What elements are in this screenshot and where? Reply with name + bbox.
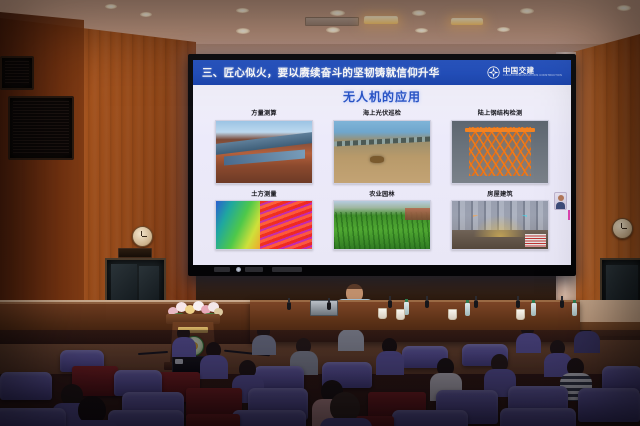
image-caption: 方量测算 (251, 108, 277, 117)
table-microphone (425, 300, 429, 308)
wall-clock (612, 218, 633, 239)
gallery-row: 方量测算 海上光伏巡检 陆上钢结构检测 (215, 108, 549, 184)
table-microphone (287, 302, 291, 310)
slide-subtitle: 无人机的应用 (193, 88, 571, 105)
audience-area (0, 330, 640, 426)
seat-frame (186, 414, 240, 426)
ceiling-downlight (520, 8, 534, 14)
gallery-cell[interactable]: 农业园林 (333, 189, 431, 251)
tea-cup (448, 309, 457, 320)
water-bottle (531, 303, 536, 316)
image-legend-overlay (525, 234, 546, 247)
gallery-image-farmland[interactable] (333, 200, 431, 250)
ceiling-downlight (105, 4, 117, 9)
slide-image-gallery: 方量测算 海上光伏巡检 陆上钢结构检测 土方测量 (215, 108, 549, 250)
ceiling-downlight (412, 10, 426, 16)
theater-seat (0, 372, 52, 400)
ceiling-panel-light (364, 16, 398, 24)
image-caption: 农业园林 (369, 189, 395, 198)
brand-text: 中国交建 CHINA COMMUNICATIONS CONSTRUCTION (503, 67, 562, 77)
theater-seat (108, 410, 184, 426)
ceiling-downlight (236, 28, 250, 34)
table-microphone (516, 300, 520, 308)
gallery-image-buildings[interactable] (451, 200, 549, 250)
led-screen-display[interactable]: 三、匠心似火，要以赓续奋斗的坚韧铸就信仰升华 中国交建 CHINA COMMUN… (193, 60, 571, 265)
screen-control-strip[interactable] (272, 267, 302, 272)
ceiling-air-vent (305, 17, 359, 26)
gallery-row: 土方测量 农业园林 房屋建筑 (215, 189, 549, 251)
person-body (516, 333, 541, 353)
image-caption: 房屋建筑 (487, 189, 513, 198)
presenter-laptop[interactable] (310, 300, 338, 316)
person-body (252, 335, 276, 355)
gallery-image-cargo-barge[interactable] (215, 120, 313, 184)
slide-header-bar: 三、匠心似火，要以赓续奋斗的坚韧铸就信仰升华 中国交建 CHINA COMMUN… (193, 60, 571, 85)
theater-seat (232, 410, 306, 426)
ceiling-downlight (326, 27, 340, 33)
gallery-cell[interactable]: 土方测量 (215, 189, 313, 251)
wall-speaker-panel (0, 56, 34, 90)
ceiling-downlight (330, 10, 345, 16)
gallery-image-offshore-solar[interactable] (333, 120, 431, 184)
compass-star-icon (487, 66, 500, 79)
ceiling-downlight (415, 28, 428, 33)
ceiling-downlight (617, 5, 631, 11)
brand-name-en: CHINA COMMUNICATIONS CONSTRUCTION (503, 75, 562, 78)
screen-control-strip[interactable] (214, 267, 230, 272)
gallery-image-terrain-heatmap[interactable] (215, 200, 313, 250)
gallery-cell[interactable]: 房屋建筑 (451, 189, 549, 251)
wall-clock (132, 226, 153, 247)
table-microphone (560, 300, 564, 308)
screen-control-strip[interactable] (245, 267, 263, 272)
water-bottle (572, 303, 577, 316)
gallery-cell[interactable]: 方量测算 (215, 108, 313, 184)
equipment-shelf (118, 248, 152, 258)
person-body (68, 420, 118, 426)
person-body (320, 418, 372, 426)
screen-power-led (236, 267, 241, 272)
table-microphone (388, 300, 392, 308)
theater-seat (500, 408, 576, 426)
slide-accent-marker (568, 210, 570, 220)
slide-title: 三、匠心似火，要以赓续奋斗的坚韧铸就信仰升华 (202, 65, 440, 80)
theater-seat (578, 388, 640, 422)
tea-cup (516, 309, 525, 320)
person-body (376, 351, 404, 375)
water-bottle (465, 303, 470, 316)
ceiling-panel-light (451, 18, 483, 25)
person-body (574, 331, 600, 353)
screenshot-root: 三、匠心似火，要以赓续奋斗的坚韧铸就信仰升华 中国交建 CHINA COMMUN… (0, 0, 640, 426)
brand-logo: 中国交建 CHINA COMMUNICATIONS CONSTRUCTION (487, 66, 562, 79)
tea-cup (396, 309, 405, 320)
presenter-camera-avatar (554, 192, 567, 210)
person-body (200, 355, 228, 379)
gallery-cell[interactable]: 海上光伏巡检 (333, 108, 431, 184)
image-caption: 陆上钢结构检测 (478, 108, 523, 117)
theater-seat (392, 410, 468, 426)
theater-seat (0, 408, 66, 426)
gallery-image-steel-structure[interactable] (451, 120, 549, 184)
table-microphone (327, 302, 331, 310)
ceiling-downlight (140, 12, 152, 17)
person-body (338, 330, 364, 351)
table-microphone (474, 300, 478, 308)
image-caption: 土方测量 (251, 189, 277, 198)
ceiling-downlight (497, 27, 510, 32)
presentation-slide: 三、匠心似火，要以赓续奋斗的坚韧铸就信仰升华 中国交建 CHINA COMMUN… (193, 60, 571, 265)
tea-cup (378, 308, 387, 319)
ceiling-downlight (236, 8, 249, 13)
person-body (172, 337, 196, 357)
wall-speaker-panel (8, 96, 74, 160)
gallery-cell[interactable]: 陆上钢结构检测 (451, 108, 549, 184)
image-caption: 海上光伏巡检 (363, 108, 401, 117)
